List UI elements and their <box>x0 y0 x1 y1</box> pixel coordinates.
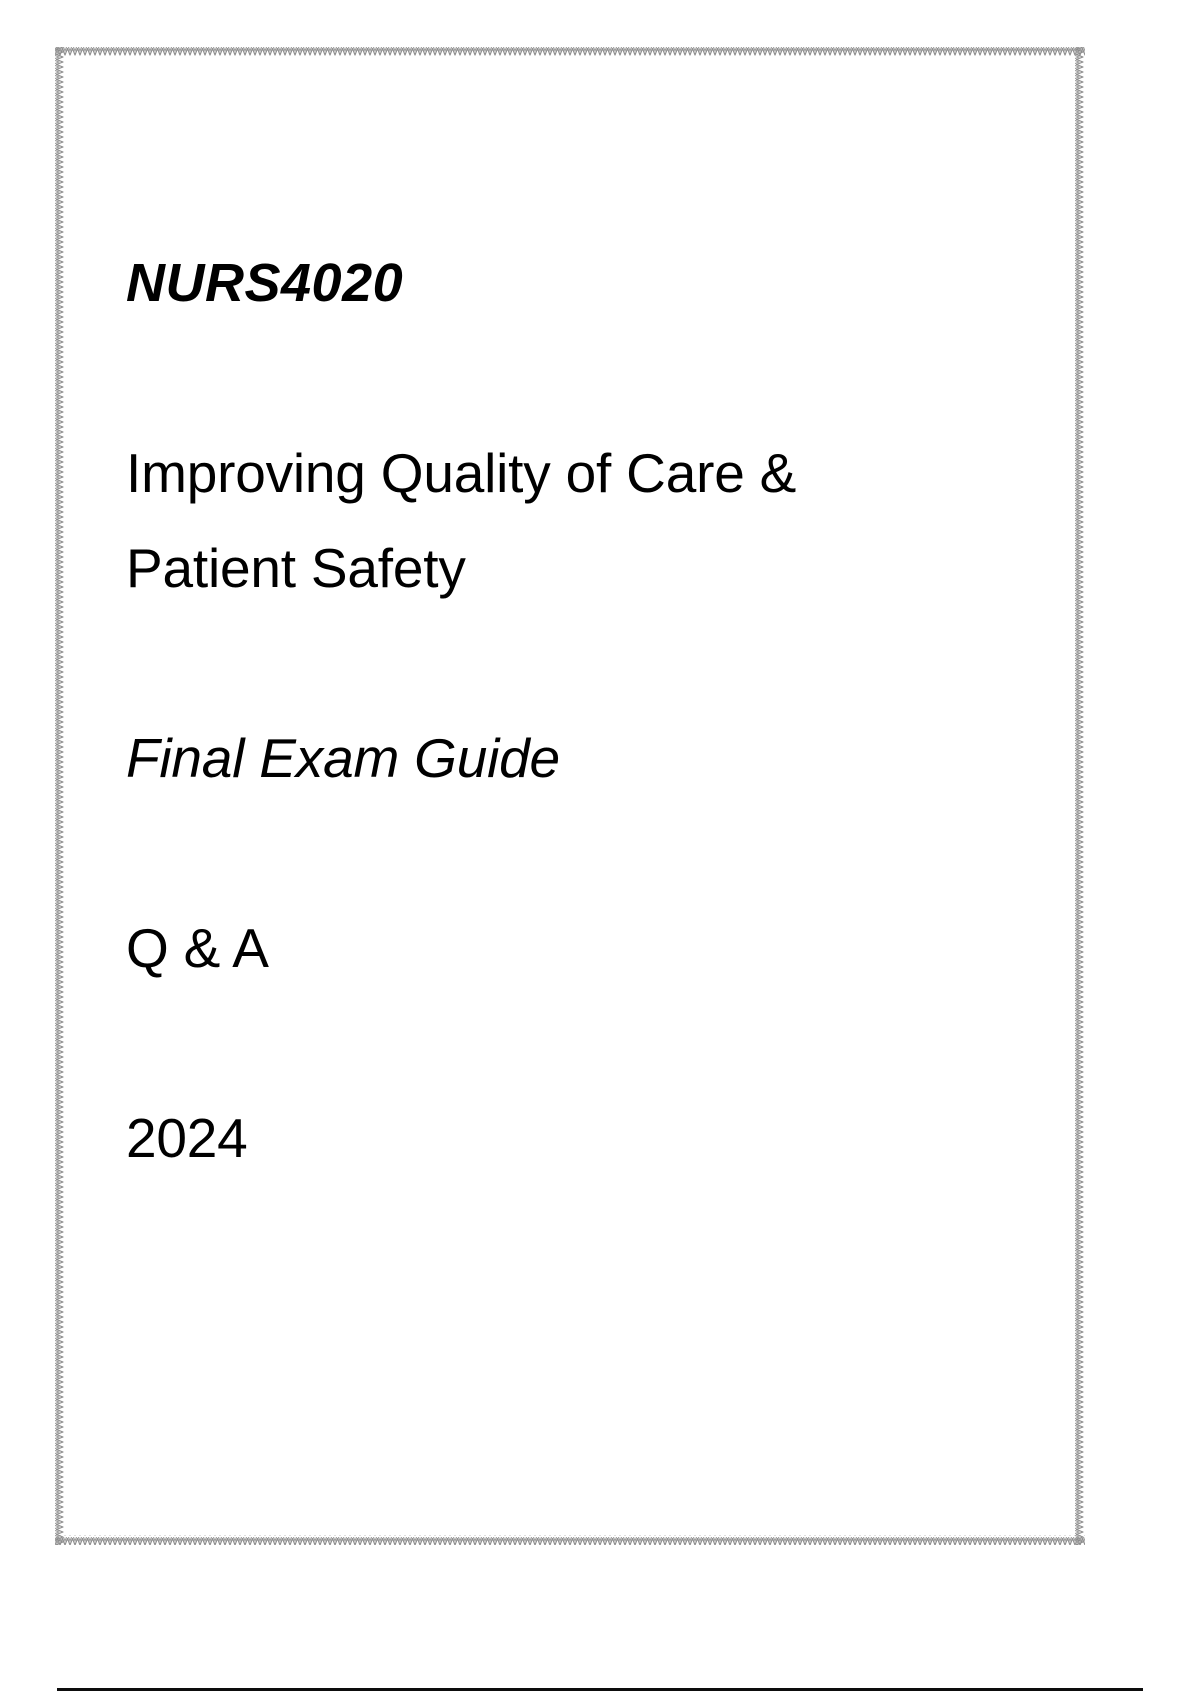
course-code: NURS4020 <box>126 236 1006 331</box>
document-year: 2024 <box>126 1091 1006 1186</box>
document-format: Q & A <box>126 901 1006 996</box>
course-title-line-1: Improving Quality of Care & <box>126 426 1006 521</box>
spacer-after-format <box>126 996 1006 1091</box>
document-subtitle: Final Exam Guide <box>126 711 1006 806</box>
spacer-after-subtitle <box>126 806 1006 901</box>
spacer-after-title <box>126 616 1006 711</box>
cover-text-column: NURS4020 Improving Quality of Care & Pat… <box>126 236 1006 1186</box>
footer-divider <box>57 1688 1143 1691</box>
document-page: NURS4020 Improving Quality of Care & Pat… <box>0 0 1200 1700</box>
spacer-after-course-code <box>126 331 1006 426</box>
course-title-line-2: Patient Safety <box>126 521 1006 616</box>
